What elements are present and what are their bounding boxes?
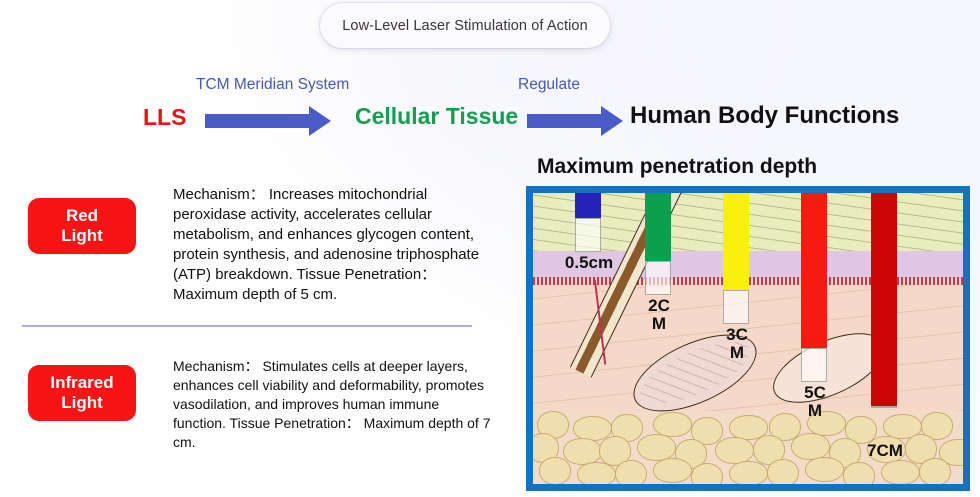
badge-infrared-line2: Light bbox=[61, 393, 103, 413]
penetration-bar-label: 0.5cm bbox=[561, 254, 617, 272]
penetration-diagram-frame: 0.5cm2C M3C M5C M7CM bbox=[526, 186, 970, 491]
penetration-bar-body bbox=[723, 193, 749, 290]
fat-cell bbox=[577, 462, 616, 484]
flow-arrow2-label: Regulate bbox=[518, 76, 580, 94]
flow-arrow-2-icon bbox=[527, 106, 623, 136]
fat-cell bbox=[691, 463, 723, 484]
penetration-bar-body bbox=[801, 193, 827, 348]
process-flow: TCM Meridian System Regulate LLS Cellula… bbox=[0, 70, 980, 132]
arrow2-head bbox=[601, 106, 623, 136]
fat-cell bbox=[881, 460, 920, 484]
flow-node-middle: Cellular Tissue bbox=[355, 103, 518, 130]
penetration-bar-label: 2C M bbox=[631, 297, 687, 334]
arrow1-head bbox=[309, 106, 331, 136]
badge-infrared-light: Infrared Light bbox=[28, 365, 136, 421]
fat-cell bbox=[715, 437, 754, 464]
flow-arrow1-label: TCM Meridian System bbox=[196, 76, 349, 94]
penetration-bar bbox=[801, 193, 827, 382]
penetration-bar-body bbox=[871, 193, 897, 406]
red-light-description: Mechanism： Increases mitochondrial perox… bbox=[173, 185, 493, 305]
badge-red-light: Red Light bbox=[28, 198, 136, 254]
badge-red-line2: Light bbox=[61, 226, 103, 246]
penetration-bar-tip bbox=[801, 348, 827, 382]
flow-node-target: Human Body Functions bbox=[630, 102, 899, 130]
fat-cell bbox=[615, 460, 647, 484]
penetration-bar-body bbox=[575, 193, 601, 218]
light-type-list: Red Light Mechanism： Increases mitochond… bbox=[0, 185, 505, 485]
fat-cell bbox=[653, 458, 692, 483]
skin-cross-section: 0.5cm2C M3C M5C M7CM bbox=[533, 193, 963, 484]
fat-cell bbox=[729, 461, 768, 484]
fat-cell bbox=[791, 433, 830, 460]
penetration-bar bbox=[645, 193, 671, 295]
arrow2-shaft bbox=[527, 114, 601, 128]
penetration-bar bbox=[871, 193, 897, 408]
penetration-bar-tip bbox=[871, 406, 897, 408]
fat-cell bbox=[805, 457, 844, 482]
fat-cell bbox=[637, 434, 676, 461]
badge-infrared-line1: Infrared bbox=[50, 373, 113, 393]
penetration-bar-label: 5C M bbox=[787, 384, 843, 421]
fat-cell bbox=[539, 457, 571, 484]
flow-arrow-1-icon bbox=[205, 106, 331, 136]
penetration-bar-label: 3C M bbox=[709, 326, 765, 363]
diagram-heading: Maximum penetration depth bbox=[537, 155, 817, 179]
flow-node-source: LLS bbox=[143, 104, 186, 131]
page-title-pill: Low-Level Laser Stimulation of Action bbox=[320, 3, 610, 48]
fat-cell bbox=[767, 459, 799, 484]
penetration-bar-label: 7CM bbox=[857, 442, 913, 460]
penetration-bar-tip bbox=[723, 290, 749, 324]
penetration-bar bbox=[723, 193, 749, 324]
fat-cell bbox=[919, 458, 951, 484]
infrared-light-description: Mechanism： Stimulates cells at deeper la… bbox=[173, 357, 493, 452]
arrow1-shaft bbox=[205, 114, 309, 128]
penetration-bar-tip bbox=[575, 218, 601, 252]
section-divider bbox=[22, 325, 472, 327]
page-title: Low-Level Laser Stimulation of Action bbox=[342, 18, 588, 34]
badge-red-line1: Red bbox=[66, 206, 98, 226]
fat-cell bbox=[563, 438, 602, 465]
penetration-bar-tip bbox=[645, 261, 671, 295]
penetration-bar-body bbox=[645, 193, 671, 261]
fat-cell bbox=[843, 462, 875, 484]
penetration-bar bbox=[575, 193, 601, 252]
